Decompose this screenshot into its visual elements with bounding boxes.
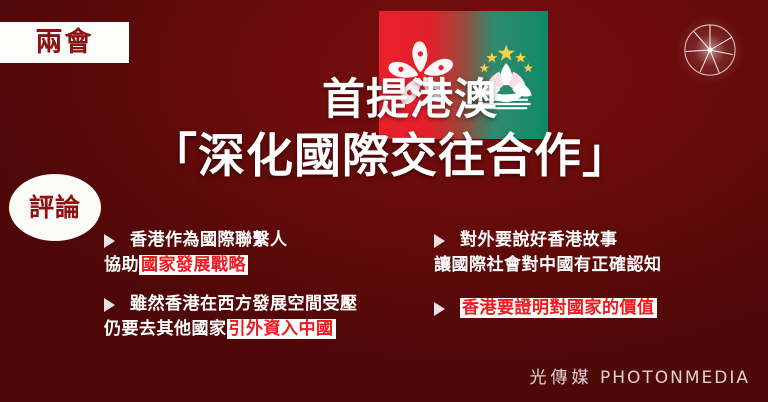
bullet-text: 雖然香港在西方發展空間受壓 xyxy=(130,294,358,314)
triangle-right-icon xyxy=(104,298,115,312)
triangle-right-icon xyxy=(434,302,445,316)
bullet-text: 協助 xyxy=(104,255,139,275)
bullet-line: 香港作為國際聯繫人 xyxy=(130,228,434,253)
bullet-line: 讓國際社會對中國有正確認知 xyxy=(434,253,764,278)
list-item: 香港要證明對國家的價值 xyxy=(434,296,764,321)
headline-line-2: 「深化國際交往合作」 xyxy=(0,128,640,186)
bullet-list: 香港作為國際聯繫人 協助國家發展戰略 雖然香港在西方發展空間受壓 仍要去其他國家… xyxy=(104,228,764,353)
headline-line-1: 首提港澳 xyxy=(0,72,640,128)
category-badge: 評論 xyxy=(9,174,101,241)
bullet-line: 仍要去其他國家引外資入中國 xyxy=(104,317,434,342)
bullet-text: 仍要去其他國家 xyxy=(104,319,227,339)
bullet-line: 協助國家發展戰略 xyxy=(104,253,434,278)
list-item: 對外要說好香港故事 讓國際社會對中國有正確認知 xyxy=(434,228,764,278)
brand-name-cn: 光傳媒 xyxy=(530,368,593,388)
news-graphic-card: 兩會 xyxy=(0,0,768,402)
bullet-line: 雖然香港在西方發展空間受壓 xyxy=(130,292,434,317)
bullet-highlight: 國家發展戰略 xyxy=(139,255,248,275)
photonmedia-starburst-logo xyxy=(672,12,748,88)
bullet-text: 讓國際社會對中國有正確認知 xyxy=(434,255,662,275)
bullet-line: 對外要說好香港故事 xyxy=(460,228,764,253)
bullet-line: 香港要證明對國家的價值 xyxy=(460,296,657,321)
triangle-right-icon xyxy=(104,234,115,248)
list-item: 雖然香港在西方發展空間受壓 仍要去其他國家引外資入中國 xyxy=(104,292,434,342)
list-item: 香港作為國際聯繫人 協助國家發展戰略 xyxy=(104,228,434,278)
brand-name-en: PHOTONMEDIA xyxy=(600,368,750,388)
bullet-column-left: 香港作為國際聯繫人 協助國家發展戰略 雖然香港在西方發展空間受壓 仍要去其他國家… xyxy=(104,228,434,356)
bullet-highlight: 香港要證明對國家的價值 xyxy=(460,298,657,318)
category-badge-label: 評論 xyxy=(29,195,81,220)
bullet-text: 對外要說好香港故事 xyxy=(460,230,618,250)
topic-badge-label: 兩會 xyxy=(36,29,94,56)
bullet-text: 香港作為國際聯繫人 xyxy=(130,230,288,250)
topic-badge: 兩會 xyxy=(0,22,129,63)
brand-watermark: 光傳媒 PHOTONMEDIA xyxy=(530,363,750,388)
page-title: 首提港澳 「深化國際交往合作」 xyxy=(0,72,640,186)
bullet-highlight: 引外資入中國 xyxy=(227,319,336,339)
bullet-column-right: 對外要說好香港故事 讓國際社會對中國有正確認知 香港要證明對國家的價值 xyxy=(434,228,764,335)
triangle-right-icon xyxy=(434,234,445,248)
